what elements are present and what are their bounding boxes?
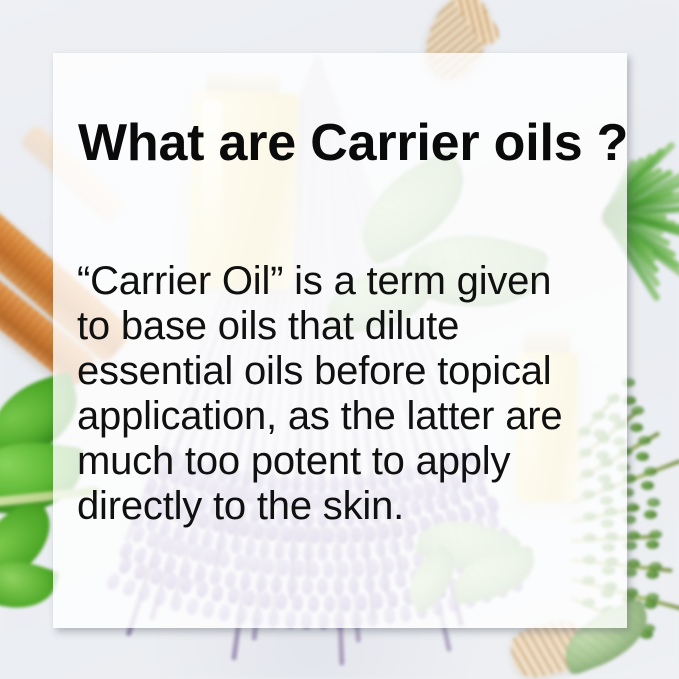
card-text-layer: What are Carrier oils ? “Carrier Oil” is…: [53, 53, 627, 628]
thyme-leaf: [644, 467, 657, 476]
body-line: to base oils that dilute: [77, 304, 617, 349]
card-body: “Carrier Oil” is a term given to base oi…: [77, 259, 617, 529]
body-line: much too potent to apply: [77, 439, 617, 484]
thyme-leaf: [649, 562, 662, 571]
thyme-leaf: [646, 540, 659, 549]
thyme-leaf: [626, 503, 639, 512]
thyme-leaf: [631, 406, 644, 415]
thyme-leaf: [627, 531, 640, 540]
thyme-leaf: [630, 423, 643, 432]
card-title: What are Carrier oils ?: [78, 117, 628, 169]
thyme-leaf: [649, 530, 662, 539]
infographic-canvas: What are Carrier oils ? “Carrier Oil” is…: [0, 0, 679, 679]
thyme-leaf: [627, 559, 640, 568]
body-line: essential oils before topical: [77, 349, 617, 394]
thyme-leaf: [647, 498, 660, 507]
body-line: “Carrier Oil” is a term given: [77, 259, 617, 304]
body-line: application, as the latter are: [77, 394, 617, 439]
body-line: directly to the skin.: [77, 484, 617, 529]
thyme-leaf: [644, 510, 657, 519]
thyme-leaf: [641, 481, 654, 490]
thyme-leaf: [646, 570, 659, 579]
thyme-leaf: [636, 452, 649, 461]
thyme-leaf: [638, 436, 651, 445]
